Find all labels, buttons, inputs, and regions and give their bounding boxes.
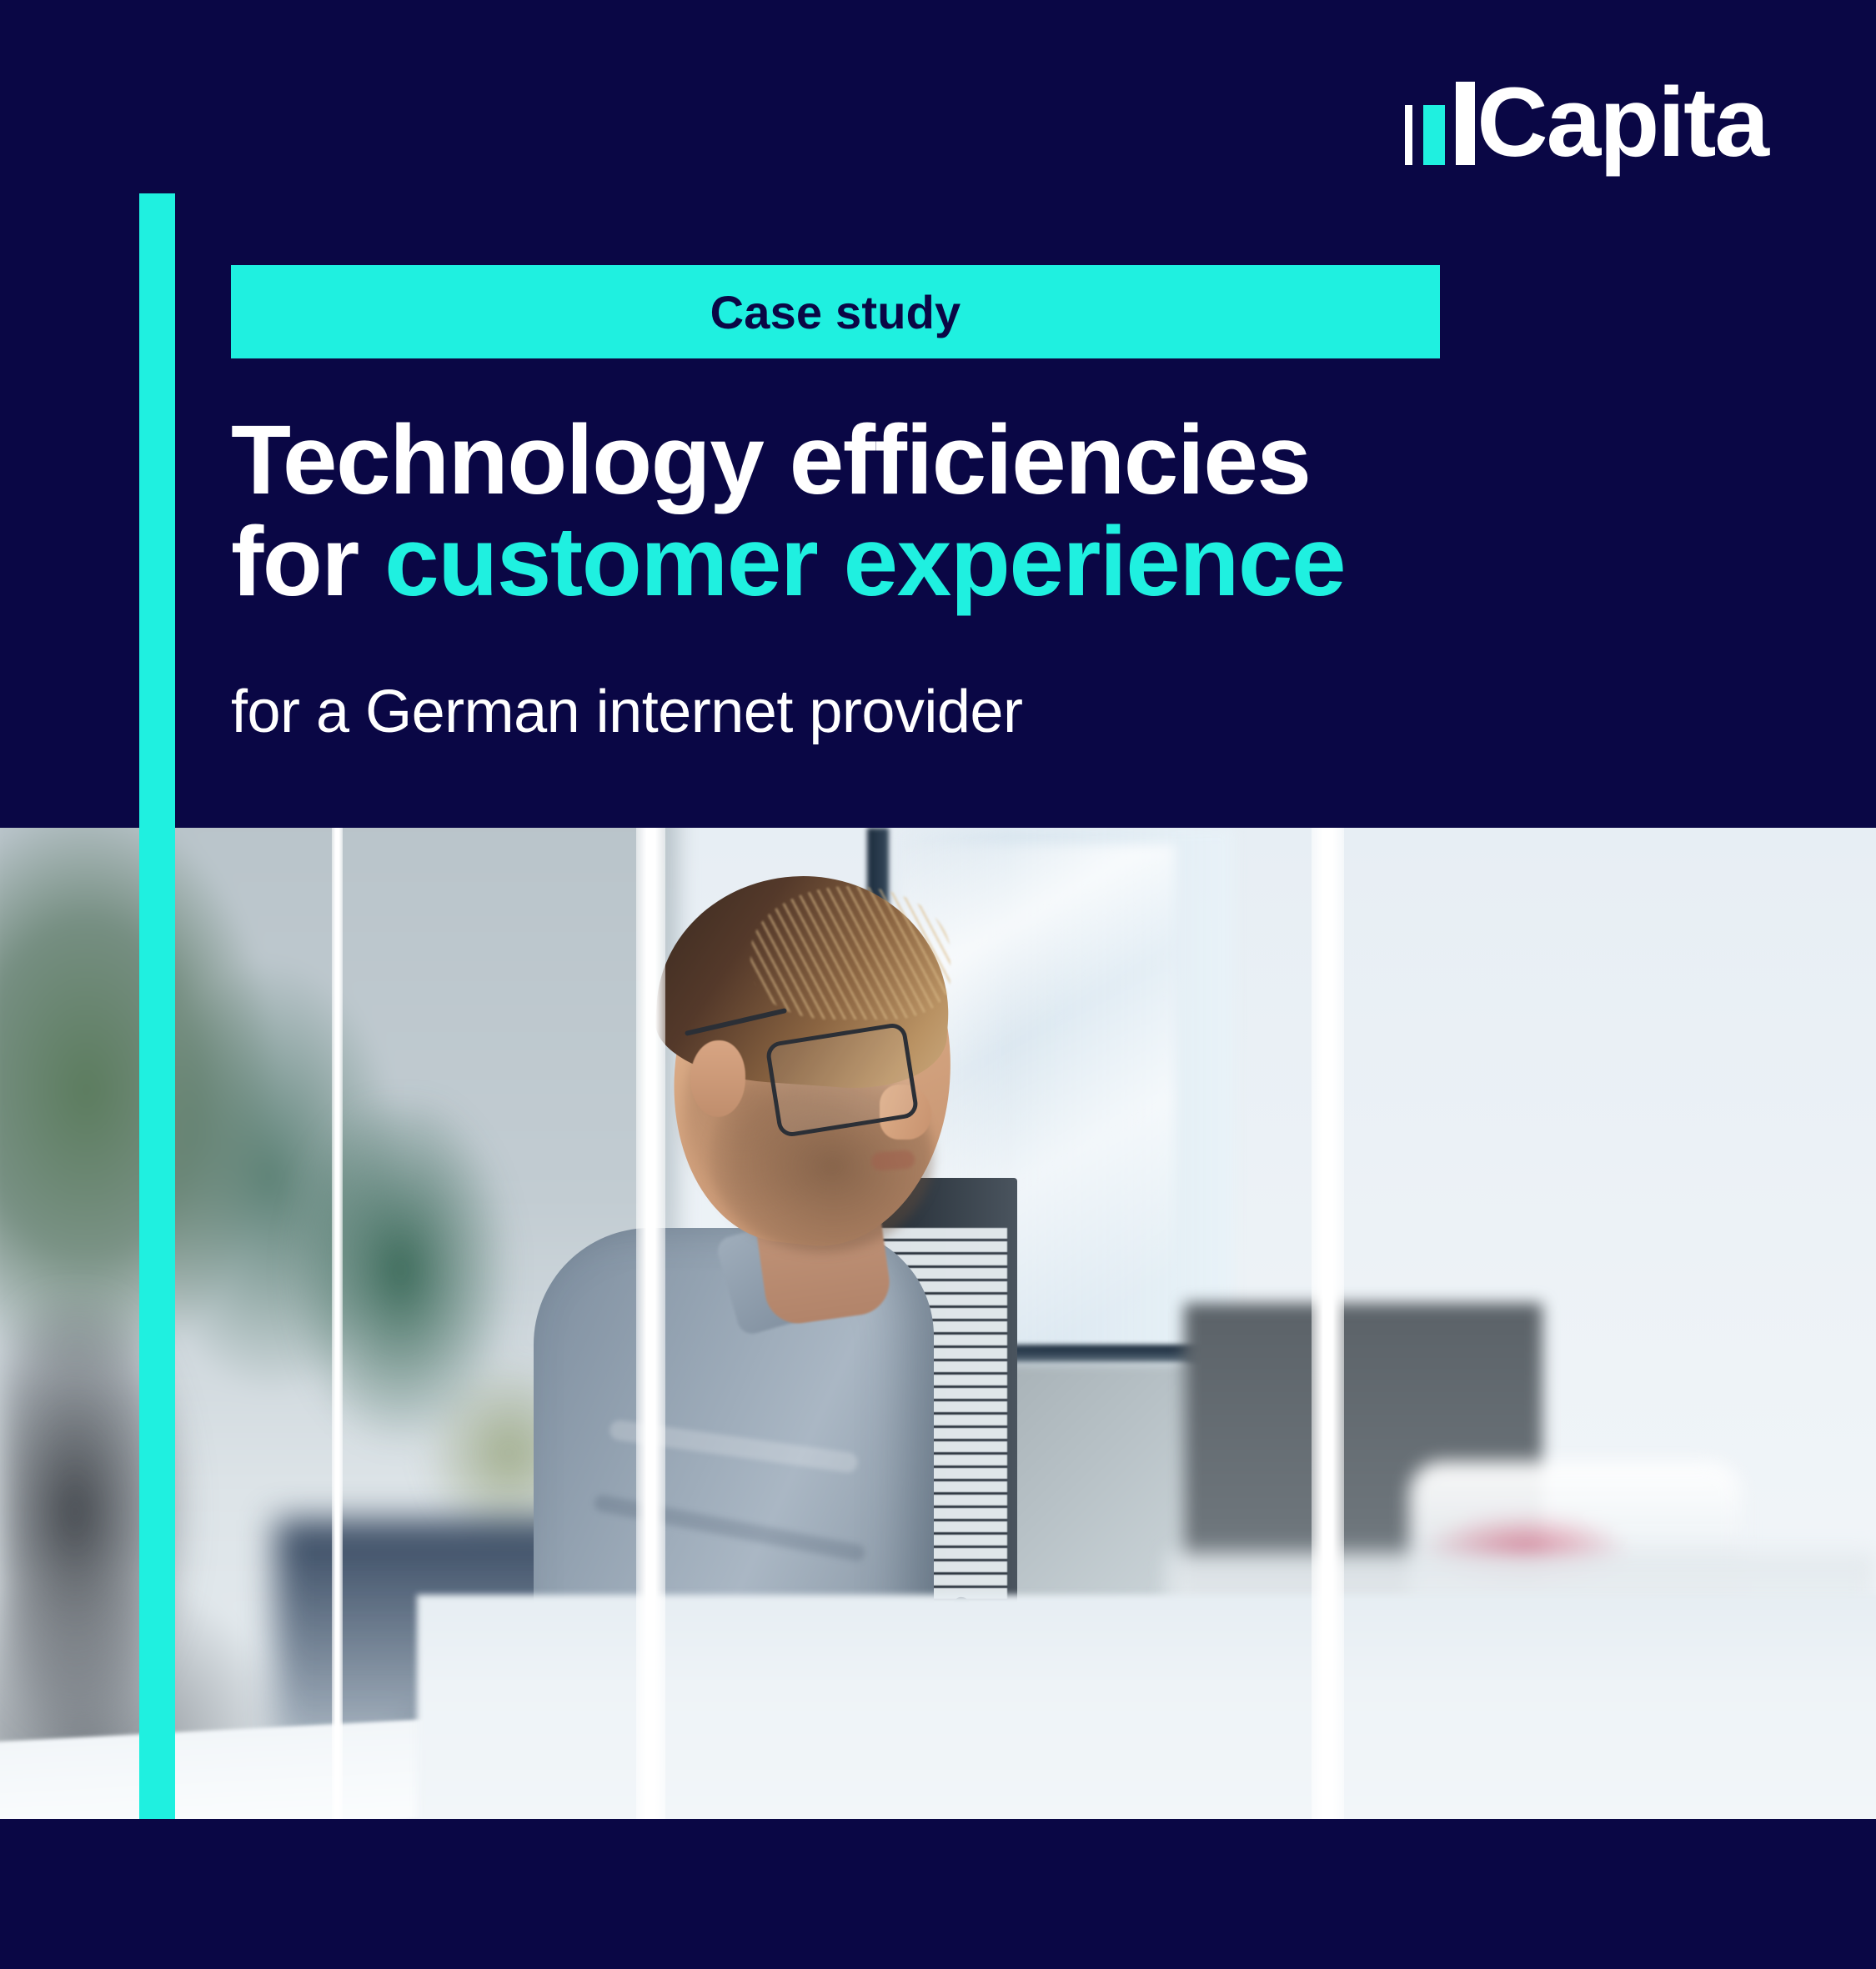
headline-line-1: Technology efficiencies xyxy=(231,405,1310,515)
capita-wordmark: Capita xyxy=(1477,81,1768,165)
headline-line-2-accent: customer experience xyxy=(384,507,1345,617)
poster-canvas: Capita Case study Technology efficiencie… xyxy=(0,0,1876,1969)
logo-bar-cyan-icon xyxy=(1423,105,1445,165)
capita-logo: Capita xyxy=(1405,65,1768,165)
photo-scene xyxy=(0,828,1876,1819)
photo-man-ear xyxy=(690,1040,745,1117)
case-study-badge: Case study xyxy=(231,265,1440,358)
hero-photo xyxy=(0,828,1876,1819)
logo-bar-tall-white-icon xyxy=(1456,82,1475,165)
capita-logo-mark xyxy=(1405,82,1475,165)
page-subtitle: for a German internet provider xyxy=(231,679,1440,746)
footer-band xyxy=(0,1819,1876,1969)
page-title: Technology efficiencies for customer exp… xyxy=(231,410,1440,613)
photo-man-lips xyxy=(870,1150,915,1171)
photo-divider-stripe xyxy=(1312,828,1344,1819)
photo-divider-stripe xyxy=(332,828,343,1819)
photo-divider-stripe xyxy=(636,828,665,1819)
logo-bar-thin-white-icon xyxy=(1405,105,1412,165)
cyan-accent-rule xyxy=(139,193,175,1819)
case-study-badge-label: Case study xyxy=(710,285,961,339)
photo-man-hair-strands xyxy=(750,886,951,1020)
headline-line-2-prefix: for xyxy=(231,507,384,617)
header-block: Case study Technology efficiencies for c… xyxy=(231,265,1440,746)
